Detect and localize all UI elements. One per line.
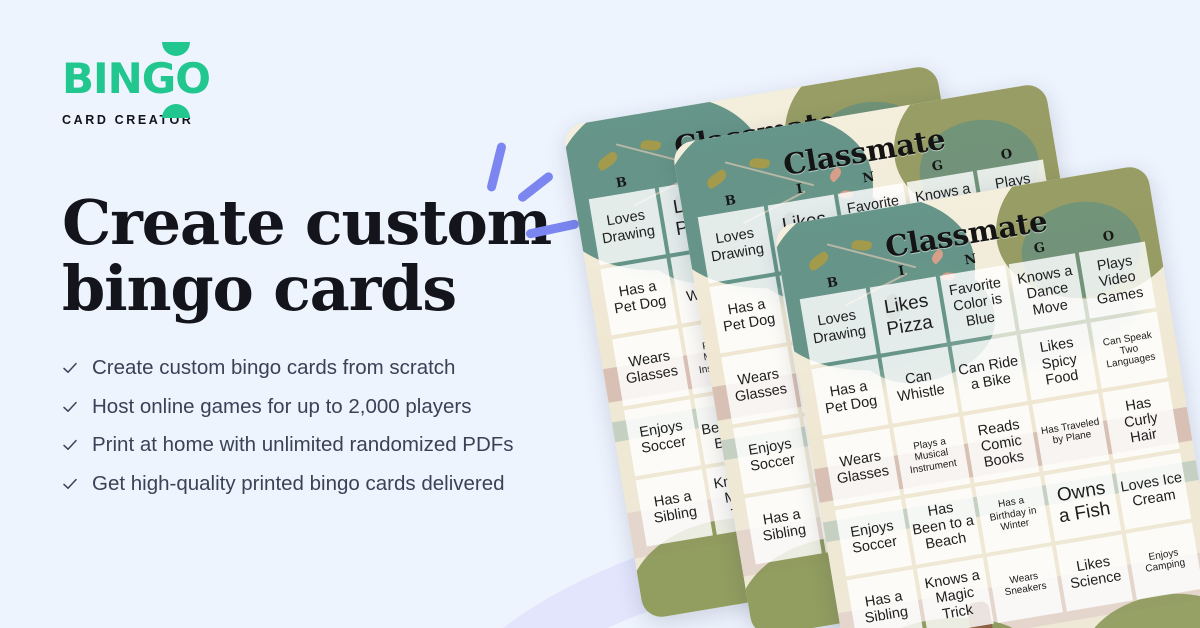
bingo-cell[interactable]: Likes Science bbox=[1056, 534, 1133, 611]
bingo-cell[interactable]: Likes Pizza bbox=[870, 277, 947, 354]
bingo-cell[interactable]: Owns a Fish bbox=[1044, 464, 1121, 541]
bingo-cell[interactable]: Reads Comic Books bbox=[963, 405, 1040, 482]
bingo-cell[interactable]: Loves Ice Cream bbox=[1114, 452, 1191, 529]
bingo-cell[interactable]: Favorite Color is Blue bbox=[939, 265, 1016, 342]
bingo-cell[interactable]: Wears Glasses bbox=[612, 329, 689, 406]
bingo-cell[interactable]: Wears Sneakers bbox=[986, 546, 1063, 623]
bingo-cell[interactable]: Has Curly Hair bbox=[1102, 382, 1179, 459]
bingo-cell[interactable]: Has Been to a Beach bbox=[905, 487, 982, 564]
bingo-cell[interactable]: Plays a Musical Instrument bbox=[893, 417, 970, 494]
bingo-cell[interactable]: Enjoys Soccer bbox=[733, 417, 810, 494]
bingo-cell[interactable]: Can Speak Two Languages bbox=[1091, 312, 1168, 389]
bingo-cell[interactable]: Wears Glasses bbox=[823, 429, 900, 506]
bingo-cell[interactable]: Loves Drawing bbox=[698, 206, 775, 283]
bingo-grid: Loves DrawingLikes PizzaFavorite Color i… bbox=[798, 241, 1200, 628]
bingo-cell[interactable]: Knows a Magic Trick bbox=[917, 557, 994, 628]
bingo-cell[interactable]: Enjoys Soccer bbox=[624, 399, 701, 476]
bingo-cell[interactable]: Has a Pet Dog bbox=[709, 276, 786, 353]
bingo-cell[interactable]: Has a Pet Dog bbox=[811, 358, 888, 435]
bingo-cell[interactable]: Plays Video Games bbox=[1079, 242, 1156, 319]
bingo-cell[interactable]: Loves Drawing bbox=[800, 288, 877, 365]
bingo-cell[interactable]: Has a Sibling bbox=[847, 569, 924, 628]
bingo-cell[interactable]: Has a Sibling bbox=[745, 487, 822, 564]
bingo-cell[interactable]: Has a Birthday in Winter bbox=[975, 476, 1052, 553]
bingo-cell[interactable]: Has a Sibling bbox=[636, 469, 713, 546]
bingo-cell[interactable]: Knows a Dance Move bbox=[1009, 253, 1086, 330]
bingo-cell[interactable]: Has a Pet Dog bbox=[600, 258, 677, 335]
bingo-cell[interactable]: Has Traveled by Plane bbox=[1033, 394, 1110, 471]
bingo-cell[interactable]: Wears Glasses bbox=[721, 347, 798, 424]
bingo-card-front[interactable]: ClassmateBINGOLoves DrawingLikes PizzaFa… bbox=[773, 164, 1200, 628]
bingo-card-stack: ClassmateBINGOLoves DrawingLikes PizzaFa… bbox=[0, 0, 1200, 628]
bingo-cell[interactable]: Likes Spicy Food bbox=[1021, 323, 1098, 400]
bingo-cell[interactable]: Enjoys Camping bbox=[1126, 522, 1200, 599]
bingo-cell[interactable]: Can Ride a Bike bbox=[951, 335, 1028, 412]
bingo-cell[interactable]: Enjoys Soccer bbox=[835, 499, 912, 576]
bingo-cell[interactable]: Can Whistle bbox=[881, 347, 958, 424]
bingo-cell[interactable]: Loves Drawing bbox=[589, 188, 666, 265]
